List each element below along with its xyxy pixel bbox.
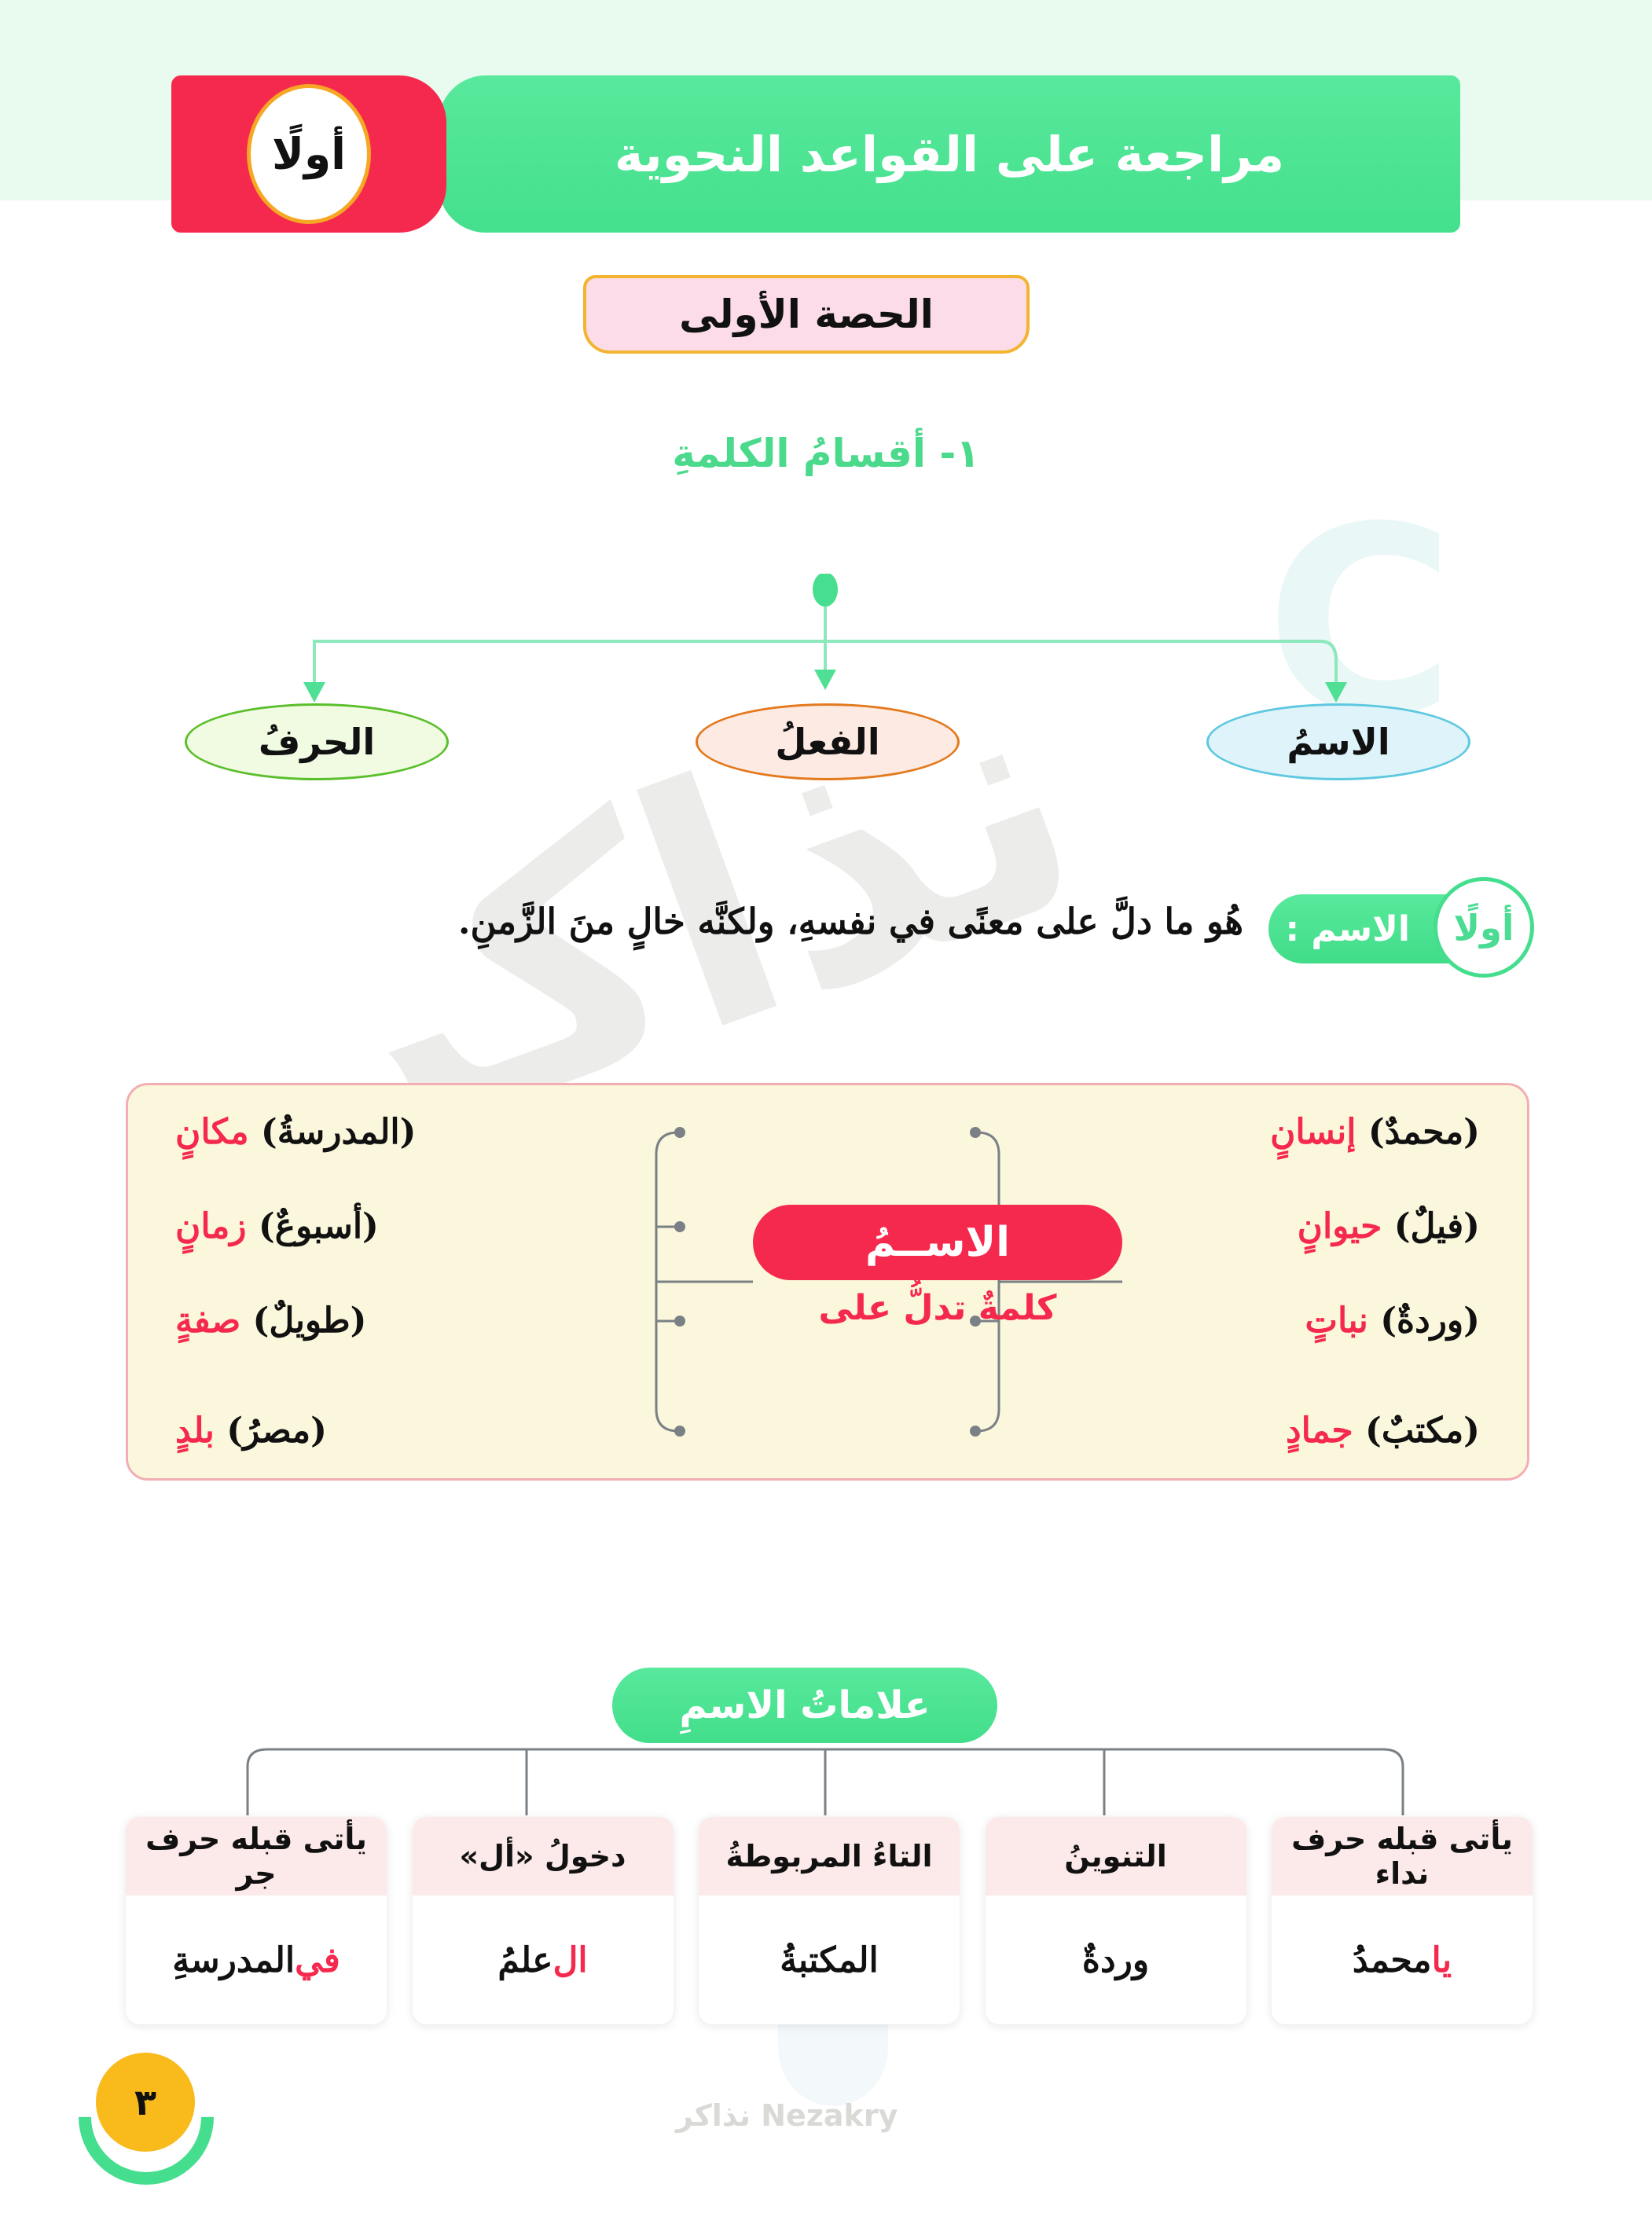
- page-header: مراجعة على القواعد النحوية أولًا: [171, 75, 1460, 233]
- tree-node-ism: الاسمُ: [1206, 703, 1470, 780]
- tree-node-harf-label: الحرفُ: [259, 721, 375, 763]
- page-title: مراجعة على القواعد النحوية: [615, 126, 1284, 183]
- ism-right-item-2: (وردةٌ) نباتٍ: [1305, 1301, 1480, 1341]
- ism-left-item-3-example: (مصرُ): [226, 1411, 327, 1451]
- ism-left-item-0-key: مكانٍ: [175, 1112, 249, 1152]
- ism-right-item-3-example: (مكتبٌ): [1365, 1411, 1480, 1451]
- ism-center-title: الاســمُ: [865, 1219, 1010, 1266]
- header-order-banner: أولًا: [171, 75, 446, 233]
- page-number-disc: ٣: [96, 2053, 195, 2152]
- lesson-label: الحصة الأولى: [679, 292, 934, 337]
- ism-left-item-2: (طويلٌ) صفةٍ: [175, 1301, 367, 1341]
- ism-right-item-0-example: (محمدٌ): [1368, 1112, 1480, 1152]
- ism-left-item-3: (مصرُ) بلدٍ: [175, 1411, 327, 1451]
- alamat-card-0-highlight: في: [295, 1940, 340, 1980]
- watermark-footer-text: Nezakry نذاكر: [676, 2098, 898, 2133]
- ism-definition-row: الاسم : أولًا هُو ما دلَّ على معنًى في ن…: [0, 886, 1652, 973]
- alamat-card-3-body: وردةٌ: [986, 1896, 1246, 2024]
- ism-left-item-2-key: صفةٍ: [175, 1301, 240, 1341]
- alamat-card-al: دخولُ «أل» العلمُ: [413, 1817, 674, 2024]
- alamat-card-4-rest: محمدُ: [1353, 1940, 1432, 1980]
- tree-node-ism-label: الاسمُ: [1287, 721, 1390, 763]
- alamat-card-4-body: يا محمدُ: [1272, 1896, 1533, 2024]
- ism-center-subtitle: كلمةٌ تدلُّ على: [753, 1288, 1122, 1328]
- ism-left-item-1: (أسبوعٌ) زمانٍ: [175, 1206, 379, 1246]
- alamat-card-harf-nidaa: يأتى قبله حرف نداء يا محمدُ: [1272, 1817, 1533, 2024]
- ism-right-item-1: (فيلٌ) حيوانٍ: [1298, 1206, 1480, 1246]
- order-badge: أولًا: [247, 84, 371, 224]
- ism-right-item-0: (محمدٌ) إنسانٍ: [1270, 1112, 1480, 1152]
- ism-definition-order-label: أولًا: [1454, 907, 1514, 949]
- alamat-card-3-head: التنوينُ: [986, 1817, 1246, 1896]
- alamat-card-list: يأتى قبله حرف جر في المدرسةِ دخولُ «أل» …: [126, 1817, 1533, 2029]
- tree-node-fiel: الفعلُ: [696, 703, 960, 780]
- alamat-card-harf-jar: يأتى قبله حرف جر في المدرسةِ: [126, 1817, 387, 2024]
- tree-node-fiel-label: الفعلُ: [775, 721, 879, 763]
- page-number-label: ٣: [134, 2081, 156, 2123]
- alamat-card-2-rest: المكتبةُ: [780, 1940, 879, 1980]
- alamat-card-1-highlight: ال: [553, 1940, 587, 1980]
- tree-node-harf: الحرفُ: [185, 703, 449, 780]
- ism-center-pill: الاســمُ: [753, 1205, 1122, 1280]
- ism-left-item-1-example: (أسبوعٌ): [259, 1206, 379, 1246]
- alamat-card-1-body: العلمُ: [413, 1896, 674, 2024]
- alamat-card-0-body: في المدرسةِ: [126, 1896, 387, 2024]
- ism-right-item-1-key: حيوانٍ: [1298, 1206, 1382, 1246]
- header-title-banner: مراجعة على القواعد النحوية: [439, 75, 1460, 233]
- alamat-card-3-rest: وردةٌ: [1082, 1940, 1149, 1980]
- alamat-card-1-head: دخولُ «أل»: [413, 1817, 674, 1896]
- alamat-card-0-head: يأتى قبله حرف جر: [126, 1817, 387, 1896]
- lesson-pill: الحصة الأولى: [583, 275, 1030, 354]
- ism-meanings-box: الاســمُ كلمةٌ تدلُّ على (محمدٌ) إنسانٍ …: [126, 1083, 1529, 1481]
- ism-right-item-2-key: نباتٍ: [1305, 1301, 1368, 1341]
- ism-right-item-2-example: (وردةٌ): [1380, 1301, 1480, 1341]
- alamat-card-tanween: التنوينُ وردةٌ: [986, 1817, 1246, 2024]
- ism-left-item-2-example: (طويلٌ): [253, 1301, 367, 1341]
- section-title: ١- أقسامُ الكلمةِ: [0, 431, 1652, 476]
- ism-left-item-1-key: زمانٍ: [175, 1206, 247, 1246]
- ism-left-item-3-key: بلدٍ: [175, 1411, 215, 1451]
- alamat-card-4-head: يأتى قبله حرف نداء: [1272, 1817, 1533, 1896]
- ism-definition-label: الاسم :: [1285, 909, 1410, 949]
- ism-right-item-3: (مكتبٌ) جمادٍ: [1286, 1411, 1480, 1451]
- word-types-diagram: الحرفُ الفعلُ الاسمُ: [141, 574, 1509, 786]
- ism-right-item-3-key: جمادٍ: [1286, 1411, 1353, 1451]
- page-number-badge: ٣: [79, 2050, 212, 2183]
- ism-left-item-0-example: (المدرسةُ): [261, 1112, 417, 1152]
- alamat-card-1-rest: علمُ: [497, 1940, 553, 1980]
- ism-definition-text: هُو ما دلَّ على معنًى في نفسهِ، ولكنَّه …: [253, 901, 1243, 942]
- alamat-card-2-head: التاءُ المربوطةُ: [699, 1817, 960, 1896]
- ism-right-item-0-key: إنسانٍ: [1270, 1112, 1356, 1152]
- alamat-card-4-highlight: يا: [1431, 1940, 1452, 1980]
- ism-left-item-0: (المدرسةُ) مكانٍ: [175, 1112, 416, 1152]
- ism-right-item-1-example: (فيلٌ): [1394, 1206, 1480, 1246]
- alamat-card-2-body: المكتبةُ: [699, 1896, 960, 2024]
- order-badge-label: أولًا: [272, 129, 346, 179]
- ism-definition-order-badge: أولًا: [1434, 877, 1534, 978]
- alamat-card-taa-marbuta: التاءُ المربوطةُ المكتبةُ: [699, 1817, 960, 2024]
- alamat-card-0-rest: المدرسةِ: [172, 1940, 295, 1980]
